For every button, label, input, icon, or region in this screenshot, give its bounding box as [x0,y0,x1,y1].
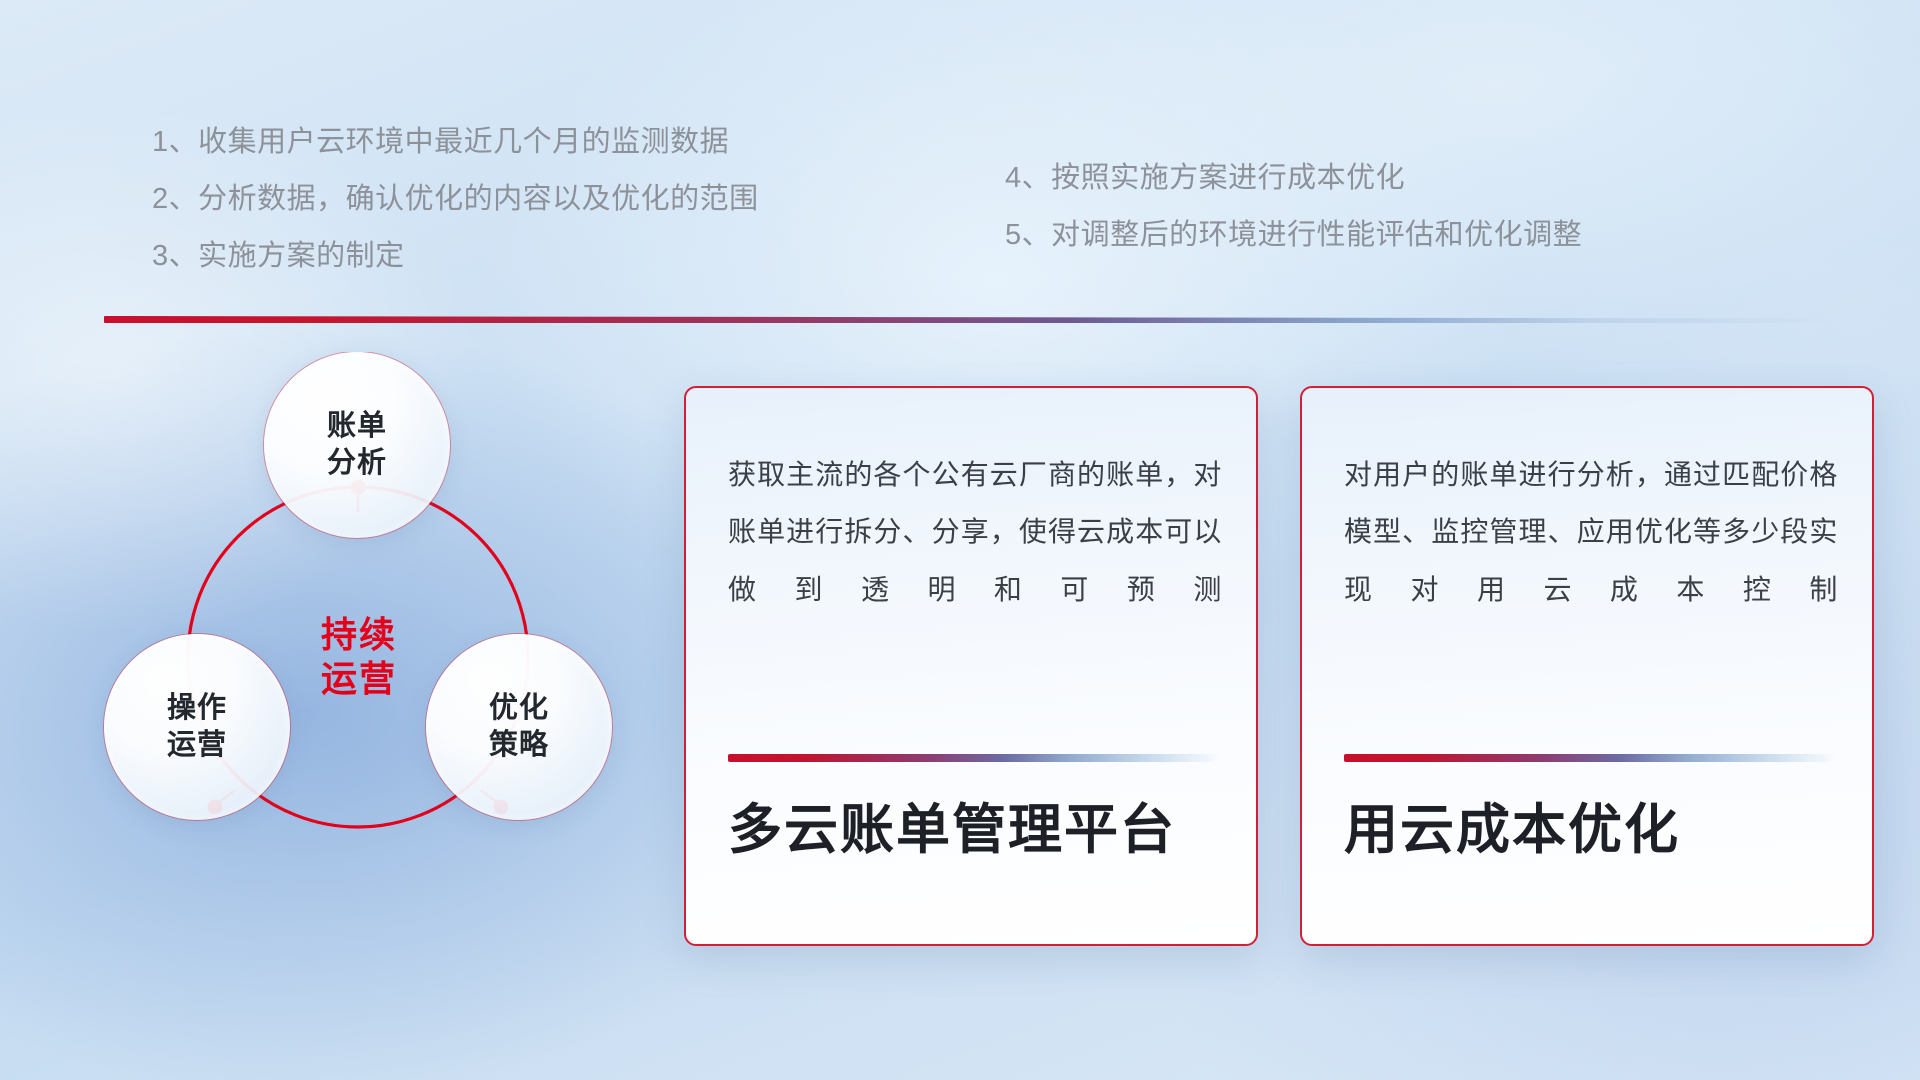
venn-center-label-line2: 运营 [321,657,397,701]
card-multi-cloud-bill-platform[interactable]: 获取主流的各个公有云厂商的账单，对账单进行拆分、分享，使得云成本可以做到透明和可… [684,386,1258,946]
slide-canvas: 1、收集用户云环境中最近几个月的监测数据 2、分析数据，确认优化的内容以及优化的… [0,0,1920,1080]
card-1-title: 多云账单管理平台 [728,798,1222,863]
step-item-5: 5、对调整后的环境进行性能评估和优化调整 [1005,221,1582,250]
venn-bubble-bill-analysis-line1: 账单 [327,408,387,445]
card-1-body-text: 获取主流的各个公有云厂商的账单，对账单进行拆分、分享，使得云成本可以做到透明和可… [728,446,1222,618]
venn-bubble-bill-analysis[interactable]: 账单 分析 [264,352,450,538]
card-1-divider [728,754,1220,762]
card-2-title: 用云成本优化 [1344,798,1838,863]
venn-bubble-operations-line2: 运营 [167,727,227,764]
card-2-divider [1344,754,1836,762]
card-2-body-text: 对用户的账单进行分析，通过匹配价格模型、监控管理、应用优化等多少段实现对用云成本… [1344,446,1838,618]
venn-center-label: 持续 运营 [276,542,442,772]
venn-bubble-operations-line1: 操作 [167,690,227,727]
steps-right-column: 4、按照实施方案进行成本优化 5、对调整后的环境进行性能评估和优化调整 [1005,164,1582,250]
card-cloud-cost-optimization[interactable]: 对用户的账单进行分析，通过匹配价格模型、监控管理、应用优化等多少段实现对用云成本… [1300,386,1874,946]
section-divider-bar [104,316,1834,323]
venn-bubble-optimization-strategy-line1: 优化 [489,690,549,727]
venn-bubble-operations[interactable]: 操作 运营 [104,634,290,820]
venn-bubble-bill-analysis-line2: 分析 [327,445,387,482]
steps-left-column: 1、收集用户云环境中最近几个月的监测数据 2、分析数据，确认优化的内容以及优化的… [152,128,759,271]
step-item-1: 1、收集用户云环境中最近几个月的监测数据 [152,128,759,157]
step-item-4: 4、按照实施方案进行成本优化 [1005,164,1582,193]
venn-center-label-line1: 持续 [321,613,397,657]
continuous-operations-venn: 账单 分析 操作 运营 优化 策略 持续 运营 [96,352,656,952]
venn-bubble-optimization-strategy-line2: 策略 [489,727,549,764]
step-item-2: 2、分析数据，确认优化的内容以及优化的范围 [152,185,759,214]
step-item-3: 3、实施方案的制定 [152,242,759,271]
venn-bubble-optimization-strategy[interactable]: 优化 策略 [426,634,612,820]
